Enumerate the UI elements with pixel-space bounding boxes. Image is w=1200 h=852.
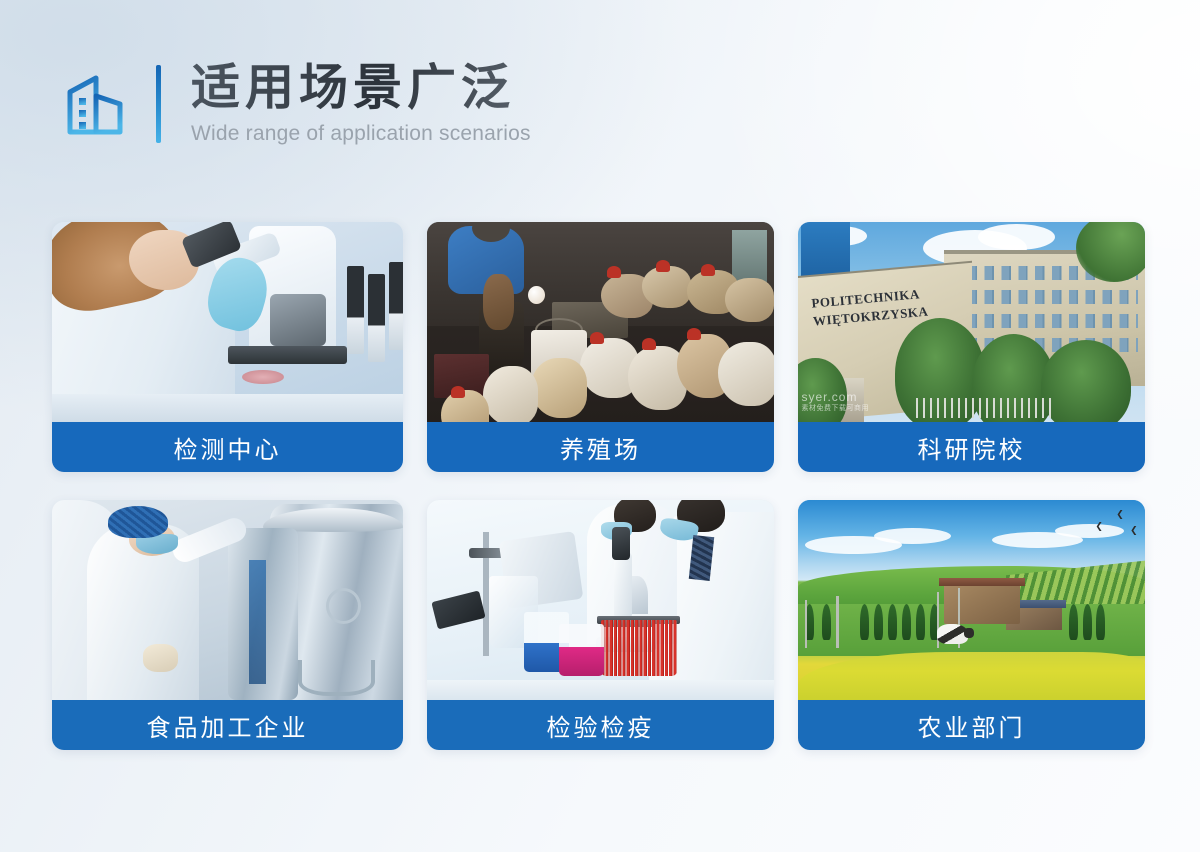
building-icon — [62, 68, 134, 140]
scenario-card-inspection-quarantine[interactable]: 检验检疫 — [427, 500, 774, 750]
title-divider — [156, 65, 161, 143]
card-label-research-institute: 科研院校 — [798, 422, 1145, 472]
scenario-card-agriculture-department[interactable]: ❮ ❮ ❮ 农业部门 — [798, 500, 1145, 750]
card-label-agriculture-department: 农业部门 — [798, 700, 1145, 750]
card-image-breeding-farm — [427, 222, 774, 422]
page-title: 适用场景广泛 — [191, 62, 531, 113]
card-label-breeding-farm: 养殖场 — [427, 422, 774, 472]
card-label-detection-center: 检测中心 — [52, 422, 403, 472]
scenario-card-grid: 检测中心 养殖场 — [52, 222, 1148, 750]
scenario-card-research-institute[interactable]: POLITECHNIKA WIĘTOKRZYSKA syer.com 素材免费下… — [798, 222, 1145, 472]
card-image-research-institute: POLITECHNIKA WIĘTOKRZYSKA syer.com 素材免费下… — [798, 222, 1145, 422]
card-label-inspection-quarantine: 检验检疫 — [427, 700, 774, 750]
card-image-food-processing — [52, 500, 403, 700]
scenario-card-detection-center[interactable]: 检测中心 — [52, 222, 403, 472]
card-label-food-processing: 食品加工企业 — [52, 700, 403, 750]
scenario-card-food-processing[interactable]: 食品加工企业 — [52, 500, 403, 750]
image-watermark: syer.com 素材免费下载可商用 — [801, 390, 869, 414]
watermark-domain: syer.com — [801, 390, 857, 404]
card-image-inspection-quarantine — [427, 500, 774, 700]
page-header: 适用场景广泛 Wide range of application scenari… — [62, 62, 531, 146]
card-image-agriculture-department: ❮ ❮ ❮ — [798, 500, 1145, 700]
card-image-detection-center — [52, 222, 403, 422]
header-titles: 适用场景广泛 Wide range of application scenari… — [191, 62, 531, 146]
watermark-note: 素材免费下载可商用 — [801, 405, 869, 414]
page-subtitle: Wide range of application scenarios — [191, 122, 531, 146]
scenario-card-breeding-farm[interactable]: 养殖场 — [427, 222, 774, 472]
